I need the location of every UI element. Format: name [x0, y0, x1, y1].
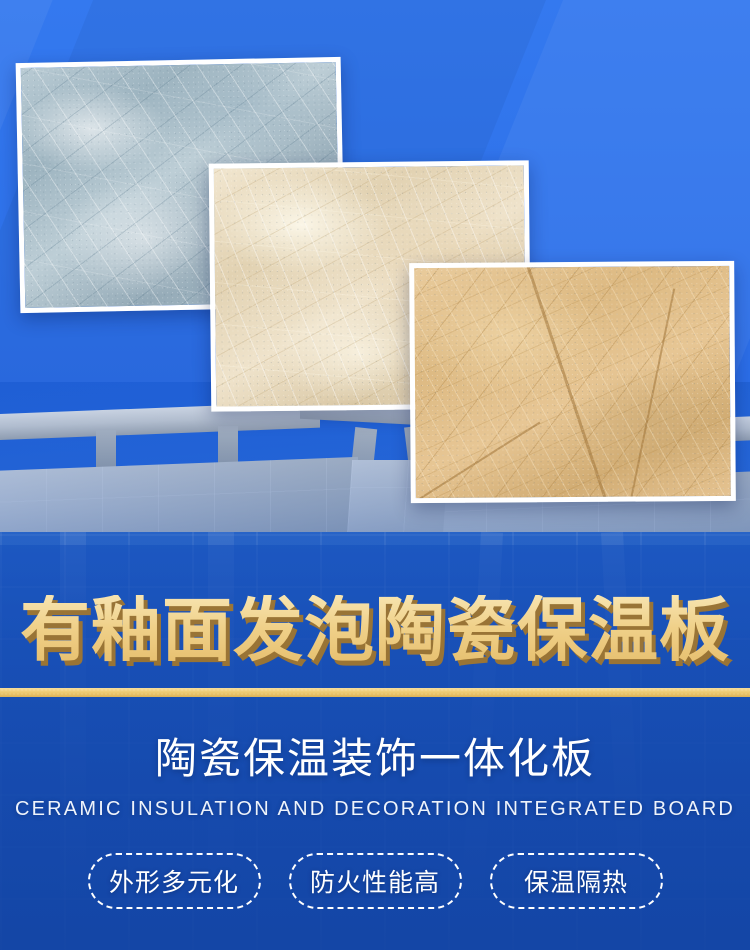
product-banner: 有釉面发泡陶瓷保温板 陶瓷保温装饰一体化板 CERAMIC INSULATION… — [0, 0, 750, 950]
subtitle-english: CERAMIC INSULATION AND DECORATION INTEGR… — [0, 797, 750, 821]
sample-tile-tan-gold-marble[interactable] — [409, 261, 736, 503]
gold-divider — [0, 688, 750, 697]
subtitle-chinese: 陶瓷保温装饰一体化板 — [0, 736, 750, 782]
feature-pill-2[interactable]: 防火性能高 — [289, 853, 462, 909]
tile-speckle — [414, 266, 731, 498]
page-title: 有釉面发泡陶瓷保温板 — [20, 595, 730, 665]
tile-texture — [414, 266, 731, 498]
feature-pill-3[interactable]: 保温隔热 — [490, 853, 663, 909]
feature-pill-list: 外形多元化 防火性能高 保温隔热 — [0, 853, 750, 909]
feature-pill-1[interactable]: 外形多元化 — [88, 853, 261, 909]
headline-container: 有釉面发泡陶瓷保温板 — [0, 580, 750, 680]
